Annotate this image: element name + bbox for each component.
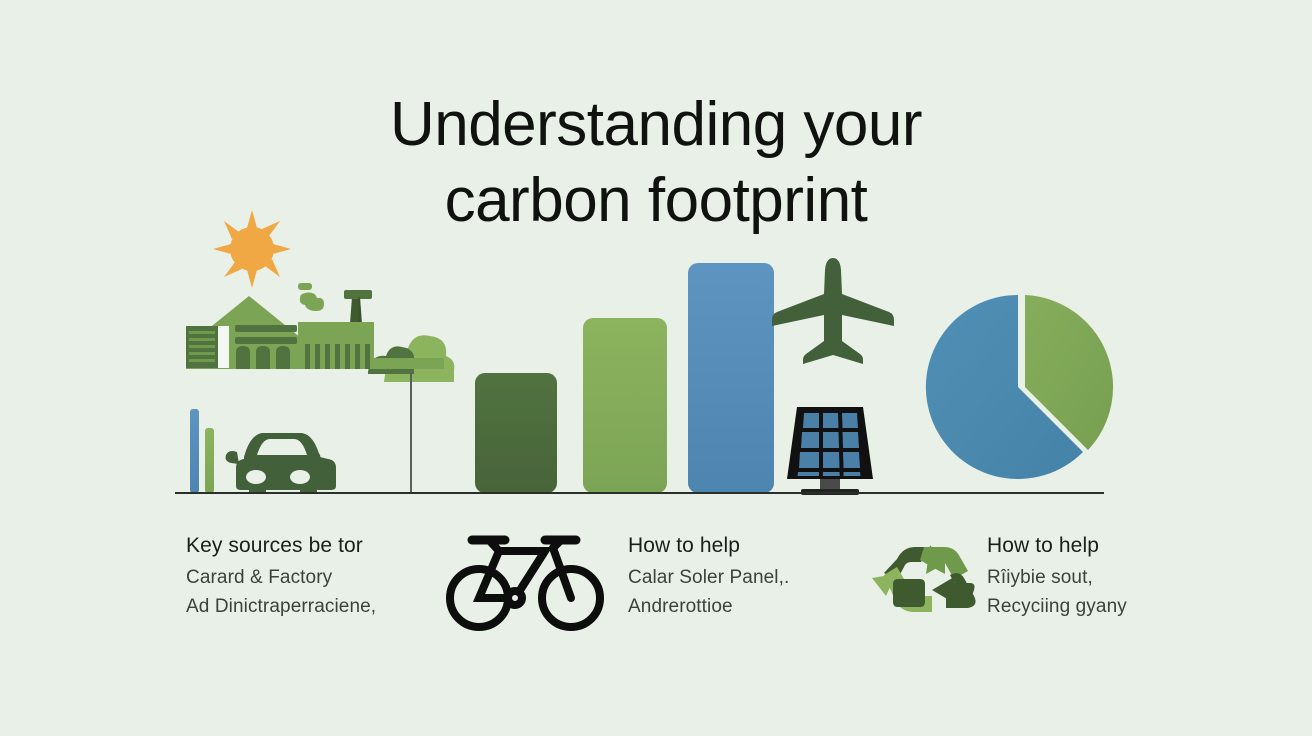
- caption-line: Recyciing gyany: [987, 592, 1247, 621]
- caption-block-how-to-help-recycling: How to help Rîiybie sout, Recyciing gyan…: [987, 532, 1247, 621]
- caption-line: Ad Dinictraperraciene,: [186, 592, 436, 621]
- caption-line: Calar Soler Panel,.: [628, 563, 878, 592]
- illustration-scene: [0, 0, 1312, 736]
- bar-agriculture: [583, 318, 667, 493]
- recycling-icon: [872, 545, 976, 612]
- caption-line: Rîiybie sout,: [987, 563, 1247, 592]
- bar-travel: [688, 263, 774, 493]
- caption-line: Carard & Factory: [186, 563, 436, 592]
- caption-block-how-to-help-solar: How to help Calar Soler Panel,. Andrerot…: [628, 532, 878, 621]
- caption-block-key-sources: Key sources be tor Carard & Factory Ad D…: [186, 532, 436, 621]
- small-bar-green: [205, 428, 214, 493]
- bar-industry: [475, 373, 557, 493]
- caption-heading: How to help: [628, 532, 878, 559]
- sun-icon: [213, 210, 291, 288]
- airplane-icon: [772, 258, 894, 364]
- pie-chart-icon: [926, 295, 1113, 479]
- caption-heading: How to help: [987, 532, 1247, 559]
- solar-panel-icon: [787, 407, 873, 495]
- infographic-poster: Understanding your carbon footprint: [0, 0, 1312, 736]
- caption-line: Andrerottioe: [628, 592, 878, 621]
- small-bar-blue: [190, 409, 199, 493]
- caption-heading: Key sources be tor: [186, 532, 436, 559]
- smoke-puff-icon: [298, 283, 324, 311]
- bicycle-icon: [450, 540, 600, 627]
